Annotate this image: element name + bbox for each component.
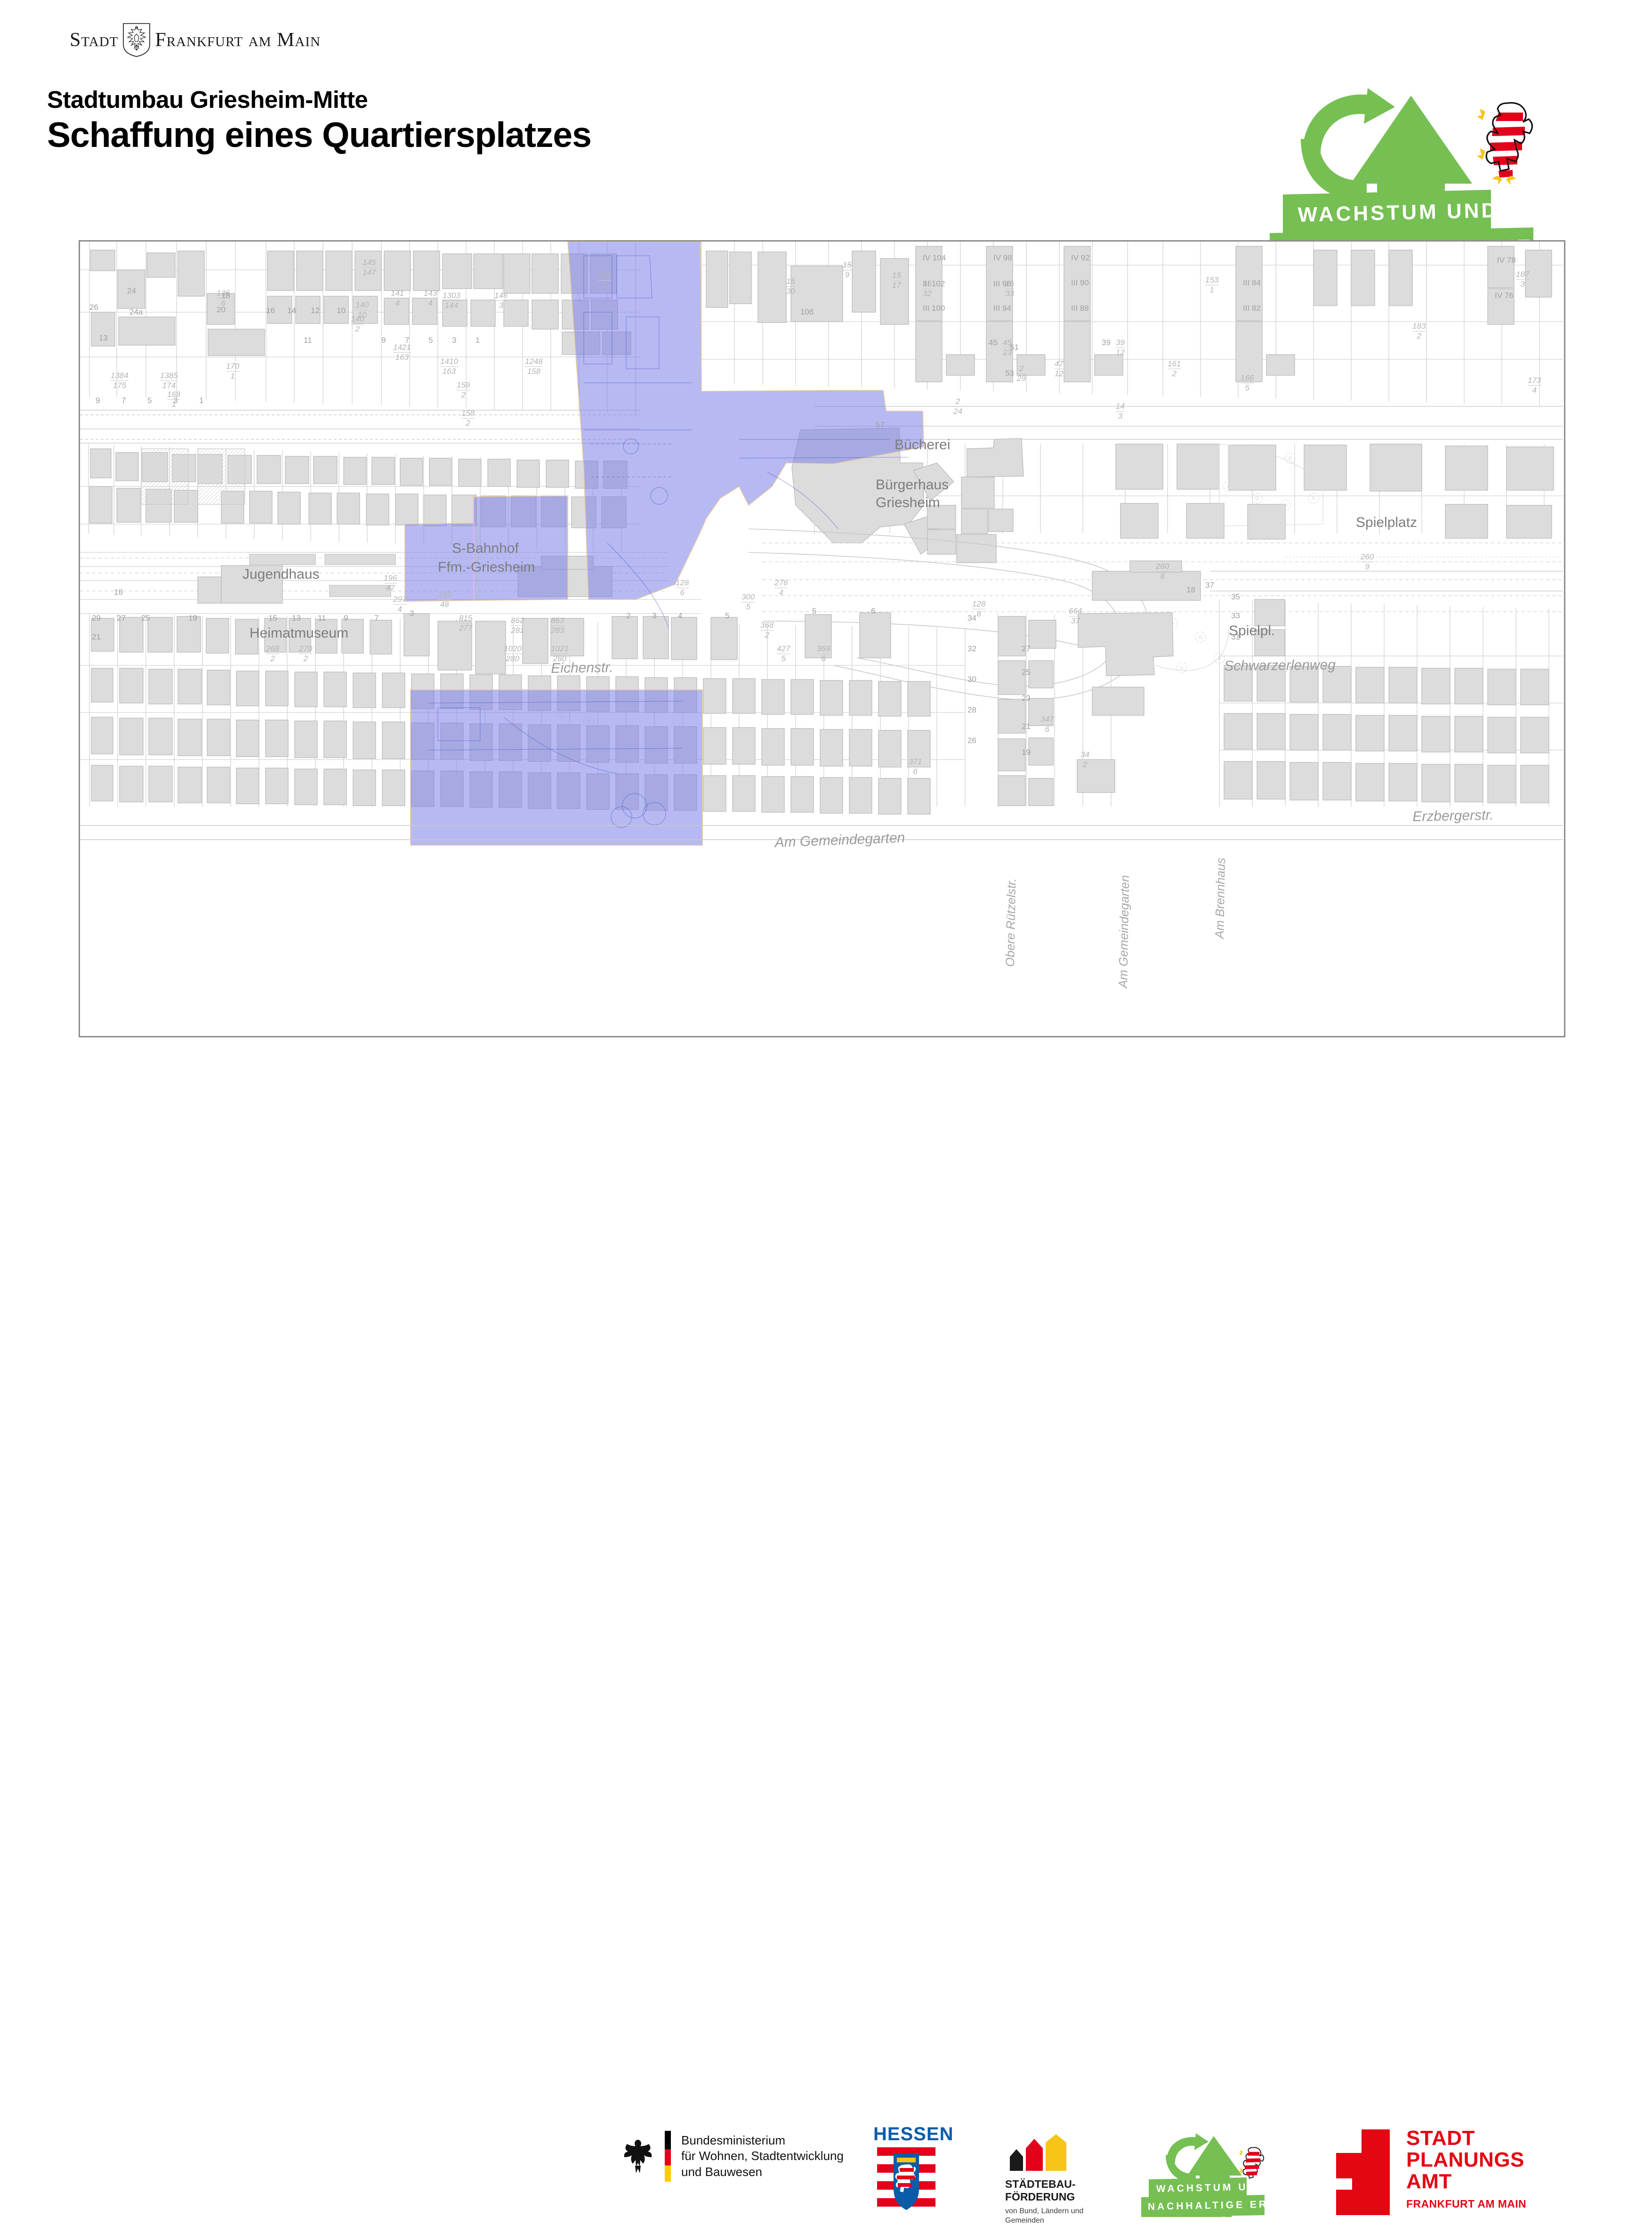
german-flag-bar-icon — [665, 2131, 671, 2182]
frankfurt-eagle-crest-icon — [122, 23, 151, 57]
staedtebau-sub-line2: Gemeinden — [1005, 2216, 1118, 2225]
bmwsb-label: Bundesministerium für Wohnen, Stadtentwi… — [681, 2133, 844, 2180]
page-title: Schaffung eines Quartiersplatzes — [47, 114, 591, 155]
staedtebaufoerderung-logo: STÄDTEBAU- FÖRDERUNG von Bund, Ländern u… — [1005, 2134, 1118, 2225]
hessen-lion-icon — [1477, 103, 1532, 185]
cadastral-map[interactable]: BüchereiBürgerhausGriesheimSpielplatzS-B… — [79, 240, 1565, 1037]
wachstum-small-line1: WACHSTUM UND — [1156, 2181, 1267, 2194]
three-houses-icon — [1005, 2134, 1080, 2172]
stadtplanungsamt-mark-icon — [1323, 2128, 1391, 2217]
document-subtitle: Stadtumbau Griesheim-Mitte — [47, 86, 368, 113]
city-of-frankfurt-logo: Stadt Frankfurt am Main — [70, 23, 321, 57]
band1-text: WACHSTUM UND — [1297, 199, 1499, 227]
spa-line1: STADT — [1406, 2128, 1526, 2149]
hessen-lion-icon-small — [1239, 2147, 1264, 2178]
bmwsb-line3: und Bauwesen — [681, 2164, 844, 2180]
bundesadler-icon — [621, 2137, 654, 2175]
footer-logo-row: Bundesministerium für Wohnen, Stadtentwi… — [0, 1060, 1652, 1168]
bmwsb-line1: Bundesministerium — [681, 2133, 844, 2148]
bmwsb-line2: für Wohnen, Stadtentwicklung — [681, 2148, 844, 2164]
stadtplanungsamt-wordmark: STADT PLANUNGS AMT FRANKFURT AM MAIN — [1406, 2128, 1526, 2210]
hessen-coat-of-arms-icon — [873, 2144, 939, 2214]
map-drawing — [80, 242, 1564, 1036]
hessen-logo: HESSEN — [873, 2125, 939, 2217]
spa-line2: PLANUNGS — [1406, 2149, 1526, 2171]
staedtebau-title: STÄDTEBAU- FÖRDERUNG — [1005, 2178, 1118, 2203]
hessen-wordmark: HESSEN — [873, 2125, 939, 2144]
staedtebau-title-line1: STÄDTEBAU- — [1005, 2178, 1118, 2191]
city-logo-word-stadt: Stadt — [70, 30, 118, 50]
spa-line3: AMT — [1406, 2171, 1526, 2193]
stadtplanungsamt-logo: STADT PLANUNGS AMT FRANKFURT AM MAIN — [1323, 2128, 1526, 2217]
document-header: Stadt Frankfurt am Main Stadtumbau Gries… — [0, 0, 1652, 221]
staedtebau-subtitle: von Bund, Ländern und Gemeinden — [1005, 2207, 1118, 2225]
spa-city: FRANKFURT AM MAIN — [1406, 2198, 1526, 2210]
bmwsb-logo: Bundesministerium für Wohnen, Stadtentwi… — [621, 2131, 844, 2182]
staedtebau-sub-line1: von Bund, Ländern und — [1005, 2207, 1118, 2216]
staedtebau-title-line2: FÖRDERUNG — [1005, 2191, 1118, 2203]
wachstum-logo-small: WACHSTUM UND NACHHALTIGE ERNEUERUNG STÄD… — [1139, 2132, 1285, 2217]
city-logo-word-frankfurt: Frankfurt am Main — [155, 30, 321, 50]
